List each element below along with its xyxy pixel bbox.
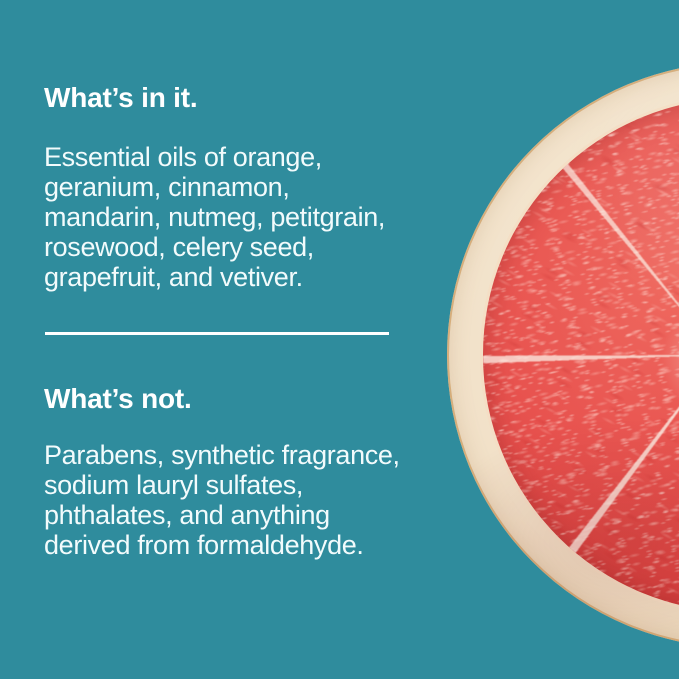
section-divider: [45, 332, 389, 335]
body-line: grapefruit, and vetiver.: [44, 262, 464, 292]
grapefruit-rind: [447, 62, 679, 648]
body-line: derived from formaldehyde.: [44, 530, 464, 560]
body-line: sodium lauryl sulfates,: [44, 470, 464, 500]
whats-not-heading: What’s not.: [44, 385, 192, 413]
flesh-vesicle-texture-secondary: [483, 98, 679, 611]
flesh-core-highlight: [658, 304, 679, 417]
body-line: mandarin, nutmeg, petitgrain,: [44, 202, 464, 232]
whats-in-it-body: Essential oils of orange, geranium, cinn…: [44, 142, 464, 292]
body-line: rosewood, celery seed,: [44, 232, 464, 262]
body-line: geranium, cinnamon,: [44, 172, 464, 202]
body-line: Parabens, synthetic fragrance,: [44, 440, 464, 470]
whats-not-body: Parabens, synthetic fragrance, sodium la…: [44, 440, 464, 560]
grapefruit-flesh: [483, 98, 679, 611]
segment-membranes: [483, 98, 679, 611]
body-line: Essential oils of orange,: [44, 142, 464, 172]
peel-speckle-texture: [447, 62, 679, 648]
body-line: phthalates, and anything: [44, 500, 464, 530]
whats-in-it-heading: What’s in it.: [44, 84, 197, 112]
peel-outer-edge: [447, 62, 679, 648]
grapefruit-slice-image: [447, 62, 679, 648]
flesh-vesicle-texture: [483, 98, 679, 611]
product-ingredients-panel: What’s in it. Essential oils of orange, …: [0, 0, 679, 679]
fruit-gloss-overlay: [447, 62, 679, 648]
